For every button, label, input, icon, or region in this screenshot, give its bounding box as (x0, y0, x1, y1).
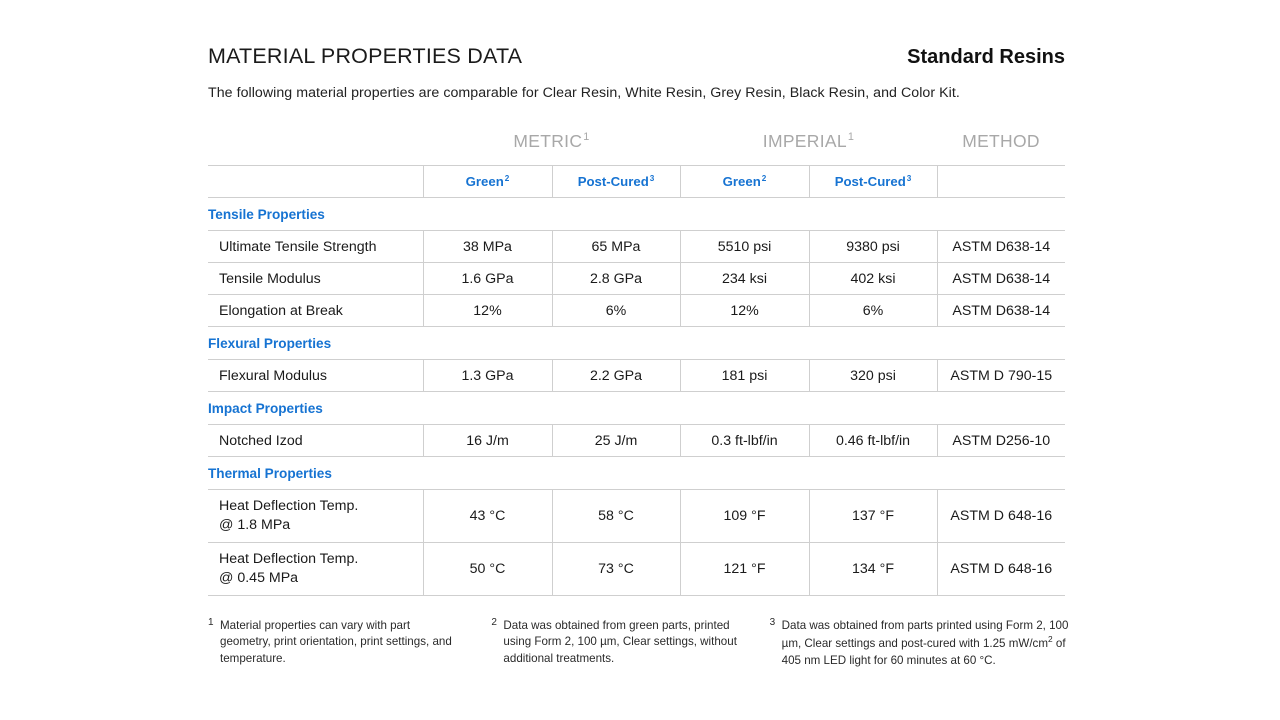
table-group-header-row: METRIC1 IMPERIAL1 METHOD (208, 131, 1065, 166)
value-cell-imperial-postcured: 402 ksi (809, 263, 937, 295)
page-title: MATERIAL PROPERTIES DATA (208, 44, 522, 69)
sub-header-metric-postcured-superscript: 3 (649, 174, 655, 183)
group-header-imperial-superscript: 1 (847, 131, 854, 143)
value-cell-imperial-postcured: 320 psi (809, 360, 937, 392)
sub-header-imperial-postcured-superscript: 3 (906, 174, 912, 183)
method-cell: ASTM D 648-16 (937, 543, 1065, 596)
table-row: Elongation at Break12%6%12%6%ASTM D638-1… (208, 295, 1065, 327)
sub-header-metric-green-superscript: 2 (504, 174, 510, 183)
group-header-metric-superscript: 1 (582, 131, 589, 143)
sub-header-imperial-green-label: Green (723, 174, 761, 189)
footnote-1-marker: 1 (208, 616, 214, 630)
sub-header-metric-green: Green2 (423, 166, 552, 198)
group-header-imperial: IMPERIAL1 (680, 131, 937, 166)
value-cell-imperial-green: 5510 psi (680, 231, 809, 263)
group-header-method: METHOD (937, 131, 1065, 166)
value-cell-metric-postcured: 58 °C (552, 490, 680, 543)
value-cell-metric-postcured: 65 MPa (552, 231, 680, 263)
sub-header-method-blank (937, 166, 1065, 198)
property-name: Elongation at Break (219, 303, 343, 319)
datasheet: MATERIAL PROPERTIES DATA Standard Resins… (208, 0, 1065, 669)
section-title: Impact Properties (208, 392, 1065, 425)
value-cell-metric-green: 1.6 GPa (423, 263, 552, 295)
sub-header-imperial-green-superscript: 2 (761, 174, 767, 183)
value-cell-metric-green: 16 J/m (423, 425, 552, 457)
value-cell-imperial-green: 181 psi (680, 360, 809, 392)
section-header-row: Flexural Properties (208, 327, 1065, 360)
footnote-2: 2Data was obtained from green parts, pri… (491, 618, 742, 669)
sub-header-metric-green-label: Green (466, 174, 504, 189)
method-cell: ASTM D 648-16 (937, 490, 1065, 543)
value-cell-imperial-postcured: 137 °F (809, 490, 937, 543)
property-name: Notched Izod (219, 433, 303, 449)
property-name-line2: @ 0.45 MPa (219, 569, 423, 588)
group-header-metric-label: METRIC (513, 131, 582, 151)
footnotes: 1Material properties can vary with part … (208, 618, 1080, 669)
sub-header-metric-postcured-label: Post-Cured (578, 174, 649, 189)
value-cell-metric-green: 38 MPa (423, 231, 552, 263)
value-cell-metric-postcured: 25 J/m (552, 425, 680, 457)
method-cell: ASTM D638-14 (937, 263, 1065, 295)
sub-header-imperial-postcured: Post-Cured3 (809, 166, 937, 198)
property-name: Tensile Modulus (219, 271, 321, 287)
footnote-1-text: Material properties can vary with part g… (220, 619, 452, 665)
property-name-cell: Elongation at Break (208, 295, 423, 327)
value-cell-metric-postcured: 6% (552, 295, 680, 327)
value-cell-imperial-green: 109 °F (680, 490, 809, 543)
property-name: Ultimate Tensile Strength (219, 239, 376, 255)
header: MATERIAL PROPERTIES DATA Standard Resins (208, 0, 1065, 69)
table-row: Tensile Modulus1.6 GPa2.8 GPa234 ksi402 … (208, 263, 1065, 295)
value-cell-imperial-green: 121 °F (680, 543, 809, 596)
value-cell-imperial-postcured: 9380 psi (809, 231, 937, 263)
value-cell-metric-postcured: 2.8 GPa (552, 263, 680, 295)
value-cell-imperial-postcured: 0.46 ft-lbf/in (809, 425, 937, 457)
material-properties-table: METRIC1 IMPERIAL1 METHOD Green2 Post-Cur… (208, 131, 1065, 596)
sub-header-imperial-green: Green2 (680, 166, 809, 198)
footnote-3-marker: 3 (770, 616, 776, 630)
value-cell-metric-green: 12% (423, 295, 552, 327)
property-name-cell: Notched Izod (208, 425, 423, 457)
table-body: Tensile PropertiesUltimate Tensile Stren… (208, 198, 1065, 596)
property-name-cell: Heat Deflection Temp.@ 1.8 MPa (208, 490, 423, 543)
sub-header-imperial-postcured-label: Post-Cured (835, 174, 906, 189)
property-name-cell: Heat Deflection Temp.@ 0.45 MPa (208, 543, 423, 596)
property-name: Flexural Modulus (219, 368, 327, 384)
method-cell: ASTM D638-14 (937, 231, 1065, 263)
property-name-line2: @ 1.8 MPa (219, 516, 423, 535)
method-cell: ASTM D 790-15 (937, 360, 1065, 392)
section-header-row: Impact Properties (208, 392, 1065, 425)
intro-text: The following material properties are co… (208, 85, 1065, 101)
value-cell-metric-green: 1.3 GPa (423, 360, 552, 392)
value-cell-imperial-green: 234 ksi (680, 263, 809, 295)
value-cell-metric-green: 43 °C (423, 490, 552, 543)
footnote-1: 1Material properties can vary with part … (208, 618, 456, 669)
table-row: Flexural Modulus1.3 GPa2.2 GPa181 psi320… (208, 360, 1065, 392)
value-cell-metric-postcured: 2.2 GPa (552, 360, 680, 392)
material-family-title: Standard Resins (907, 46, 1065, 69)
group-header-imperial-label: IMPERIAL (763, 131, 847, 151)
value-cell-metric-green: 50 °C (423, 543, 552, 596)
value-cell-imperial-postcured: 6% (809, 295, 937, 327)
footnote-2-marker: 2 (491, 616, 497, 630)
property-name-cell: Tensile Modulus (208, 263, 423, 295)
section-title: Thermal Properties (208, 457, 1065, 490)
table-row: Notched Izod16 J/m25 J/m0.3 ft-lbf/in0.4… (208, 425, 1065, 457)
footnote-3: 3Data was obtained from parts printed us… (770, 618, 1080, 669)
footnote-3-text-pre: Data was obtained from parts printed usi… (782, 619, 1069, 650)
section-header-row: Thermal Properties (208, 457, 1065, 490)
section-title: Tensile Properties (208, 198, 1065, 231)
group-header-metric: METRIC1 (423, 131, 680, 166)
method-cell: ASTM D256-10 (937, 425, 1065, 457)
sub-header-metric-postcured: Post-Cured3 (552, 166, 680, 198)
group-header-blank (208, 131, 423, 166)
table-sub-header-row: Green2 Post-Cured3 Green2 Post-Cured3 (208, 166, 1065, 198)
section-header-row: Tensile Properties (208, 198, 1065, 231)
property-name: Heat Deflection Temp. (219, 498, 358, 514)
value-cell-metric-postcured: 73 °C (552, 543, 680, 596)
value-cell-imperial-green: 0.3 ft-lbf/in (680, 425, 809, 457)
sub-header-blank (208, 166, 423, 198)
value-cell-imperial-green: 12% (680, 295, 809, 327)
property-name: Heat Deflection Temp. (219, 551, 358, 567)
table-row: Ultimate Tensile Strength38 MPa65 MPa551… (208, 231, 1065, 263)
property-name-cell: Ultimate Tensile Strength (208, 231, 423, 263)
method-cell: ASTM D638-14 (937, 295, 1065, 327)
value-cell-imperial-postcured: 134 °F (809, 543, 937, 596)
footnote-2-text: Data was obtained from green parts, prin… (503, 619, 737, 665)
property-name-cell: Flexural Modulus (208, 360, 423, 392)
section-title: Flexural Properties (208, 327, 1065, 360)
table-row: Heat Deflection Temp.@ 1.8 MPa43 °C58 °C… (208, 490, 1065, 543)
table-row: Heat Deflection Temp.@ 0.45 MPa50 °C73 °… (208, 543, 1065, 596)
